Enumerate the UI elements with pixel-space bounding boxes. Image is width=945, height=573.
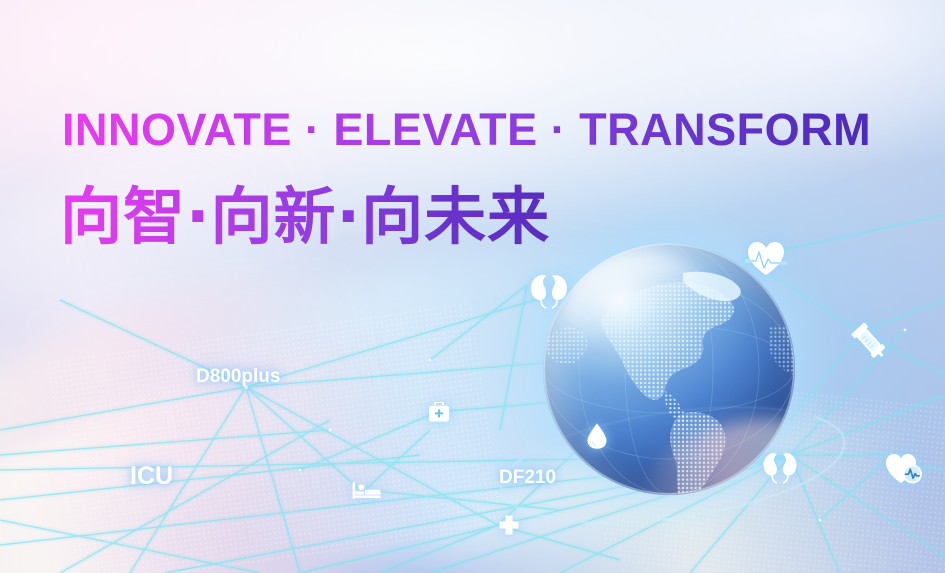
headline-english: INNOVATE · ELEVATE · TRANSFORM (62, 104, 871, 156)
network-label-icu: ICU (130, 462, 173, 491)
network-label-df210: DF210 (499, 467, 556, 489)
kidneys-small-icon (760, 450, 800, 489)
hero-banner: INNOVATE · ELEVATE · TRANSFORM 向智·向新·向未来… (0, 0, 945, 573)
headline-chinese: 向智·向新·向未来 (60, 166, 550, 256)
syringe-icon (848, 320, 890, 367)
first-aid-kit-icon (428, 402, 450, 428)
network-label-d800plus: D800plus (196, 366, 280, 388)
water-drop-icon (586, 423, 608, 454)
heart-monitor-icon (884, 450, 924, 491)
kidneys-icon (527, 270, 571, 315)
heart-pulse-icon (745, 239, 787, 282)
medical-cross-icon (498, 515, 520, 542)
hospital-bed-icon (352, 480, 381, 505)
